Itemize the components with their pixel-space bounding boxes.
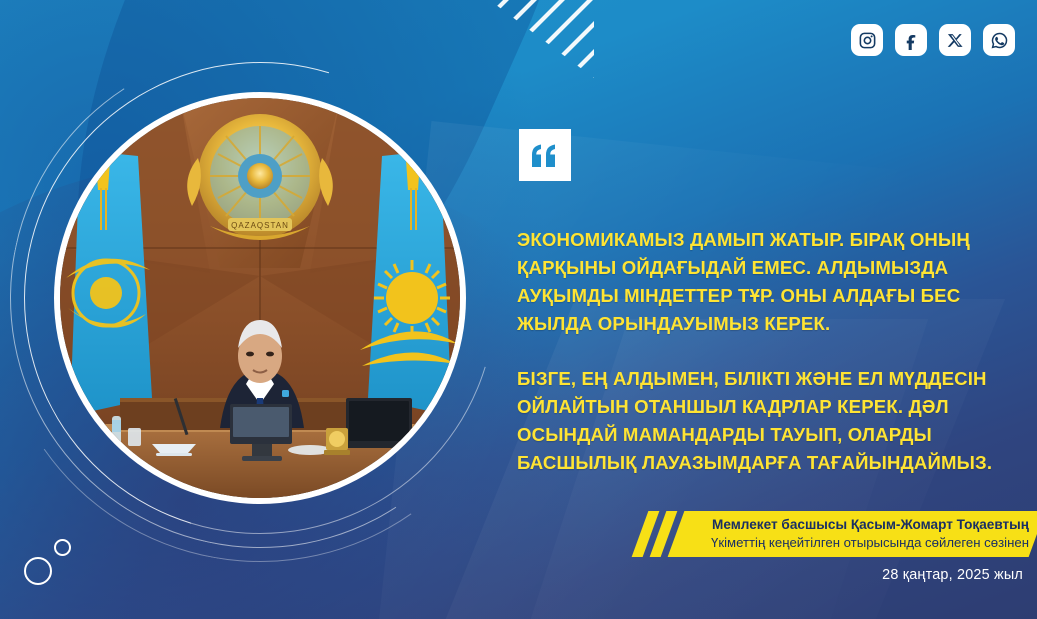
date-label: 28 қаңтар, 2025 жыл	[882, 567, 1023, 583]
instagram-icon	[858, 31, 877, 50]
social-link-x[interactable]	[939, 24, 971, 56]
social-links[interactable]	[851, 24, 1015, 56]
circle-outline-small-icon	[54, 539, 71, 556]
quote-paragraph-1: ЭКОНОМИКАМЫЗ ДАМЫП ЖАТЫР. БІРАҚ ОНЫҢ ҚАР…	[517, 226, 995, 338]
decorative-circles	[18, 537, 88, 593]
photo-illustration: QAZAQSTAN	[60, 98, 460, 498]
attribution-occasion: Үкіметтің кеңейтілген отырысында сөйлеге…	[711, 534, 1029, 552]
social-link-facebook[interactable]	[895, 24, 927, 56]
facebook-icon	[902, 31, 921, 50]
quote-text: ЭКОНОМИКАМЫЗ ДАМЫП ЖАТЫР. БІРАҚ ОНЫҢ ҚАР…	[517, 226, 995, 477]
photo-clip: QAZAQSTAN	[60, 98, 460, 498]
quote-glyph-icon	[530, 143, 560, 167]
circle-outline-large-icon	[24, 557, 52, 585]
svg-text:QAZAQSTAN: QAZAQSTAN	[231, 221, 289, 230]
president-photo: QAZAQSTAN	[30, 68, 490, 528]
social-link-whatsapp[interactable]	[983, 24, 1015, 56]
quotation-mark-badge	[519, 129, 571, 181]
attribution-speaker: Мемлекет басшысы Қасым-Жомарт Тоқаевтың	[712, 516, 1029, 534]
quote-paragraph-2: БІЗГЕ, ЕҢ АЛДЫМЕН, БІЛІКТІ ЖӘНЕ ЕЛ МҮДДЕ…	[517, 365, 995, 477]
whatsapp-icon	[990, 31, 1009, 50]
attribution-banner: Мемлекет басшысы Қасым-Жомарт Тоқаевтың …	[640, 511, 1037, 557]
social-link-instagram[interactable]	[851, 24, 883, 56]
x-twitter-icon	[947, 32, 964, 49]
diagonal-stripes-decoration	[424, 0, 594, 78]
quote-card: QAZAQSTAN	[0, 0, 1037, 619]
attribution-text: Мемлекет басшысы Қасым-Жомарт Тоқаевтың …	[686, 511, 1029, 557]
